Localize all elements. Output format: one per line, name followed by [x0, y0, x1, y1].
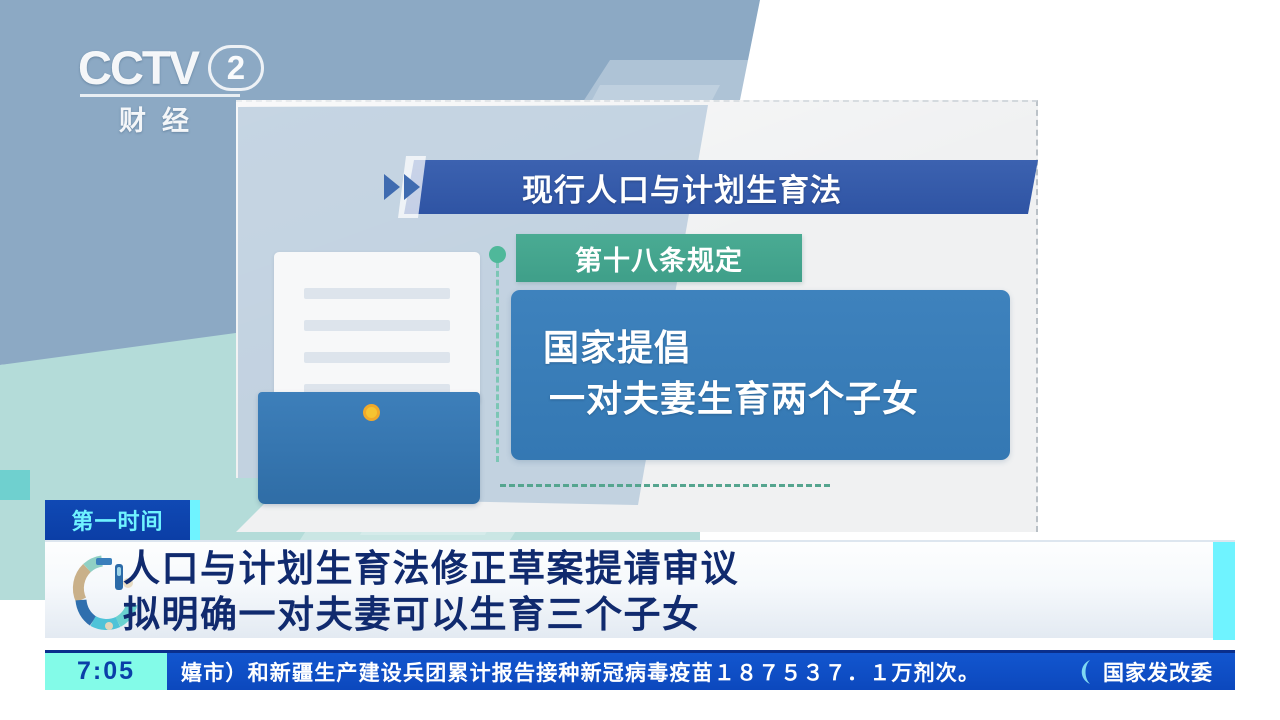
graphic-header-title: 现行人口与计划生育法	[522, 165, 842, 210]
document-text-line	[304, 352, 450, 363]
hd-watermark: 高清	[1120, 52, 1200, 96]
news-ticker: 7:05 嬉市）和新疆生产建设兵团累计报告接种新冠病毒疫苗１８７５３７．１万剂次…	[45, 650, 1235, 690]
lower-third-cyan-edge	[1213, 542, 1235, 640]
document-sheet-icon	[274, 252, 480, 402]
program-badge: 第一时间	[45, 500, 190, 540]
bottom-safe-area	[0, 690, 1280, 720]
article-tag-label: 第十八条规定	[575, 239, 743, 278]
dashed-guide-rule	[500, 484, 830, 487]
ticker-source-label: 国家发改委	[1103, 657, 1213, 687]
ticker-clock: 7:05	[45, 653, 167, 690]
channel-logo-divider	[80, 94, 240, 97]
document-text-line	[304, 288, 450, 299]
document-illustration	[258, 252, 490, 504]
green-dot-icon	[489, 246, 506, 263]
program-badge-label: 第一时间	[71, 504, 163, 536]
document-text-line	[304, 320, 450, 331]
channel-number-badge: 2	[208, 45, 264, 91]
provision-content-box: 国家提倡 一对夫妻生育两个子女	[511, 290, 1010, 460]
headline-line-1: 人口与计划生育法修正草案提请审议	[123, 546, 739, 592]
provision-line-2: 一对夫妻生育两个子女	[549, 373, 1010, 424]
ticker-right-margin	[1235, 638, 1280, 694]
background-teal-square-accent	[0, 470, 30, 500]
ticker-clock-value: 7:05	[77, 657, 135, 686]
double-chevron-right-icon	[384, 170, 430, 204]
channel-logo: CCTV 2 财经	[78, 44, 308, 144]
broadcast-frame: CCTV 2 财经 高清 现行人口与计划生育法 第十八条规定	[0, 0, 1280, 720]
ticker-scroll-text: 嬉市）和新疆生产建设兵团累计报告接种新冠病毒疫苗１８７５３７．１万剂次。	[167, 653, 1063, 690]
ticker-source: 国家发改委	[1063, 653, 1235, 690]
article-tag: 第十八条规定	[516, 234, 802, 282]
dashed-guide-line	[496, 262, 499, 462]
channel-logo-subtitle: 财经	[78, 99, 246, 138]
ticker-text-value: 嬉市）和新疆生产建设兵团累计报告接种新冠病毒疫苗１８７５３７．１万剂次。	[181, 657, 980, 687]
provision-line-1: 国家提倡	[543, 322, 1010, 373]
folder-clasp-icon	[363, 404, 380, 421]
arc-crescent-icon	[1075, 659, 1095, 685]
program-badge-accent	[190, 500, 200, 540]
headline-line-2: 拟明确一对夫妻可以生育三个子女	[123, 592, 739, 638]
headline-block: 人口与计划生育法修正草案提请审议 拟明确一对夫妻可以生育三个子女	[123, 546, 739, 638]
ticker-left-margin	[0, 638, 48, 694]
channel-logo-text: CCTV	[78, 44, 198, 91]
graphic-header-banner: 现行人口与计划生育法	[404, 160, 1038, 214]
